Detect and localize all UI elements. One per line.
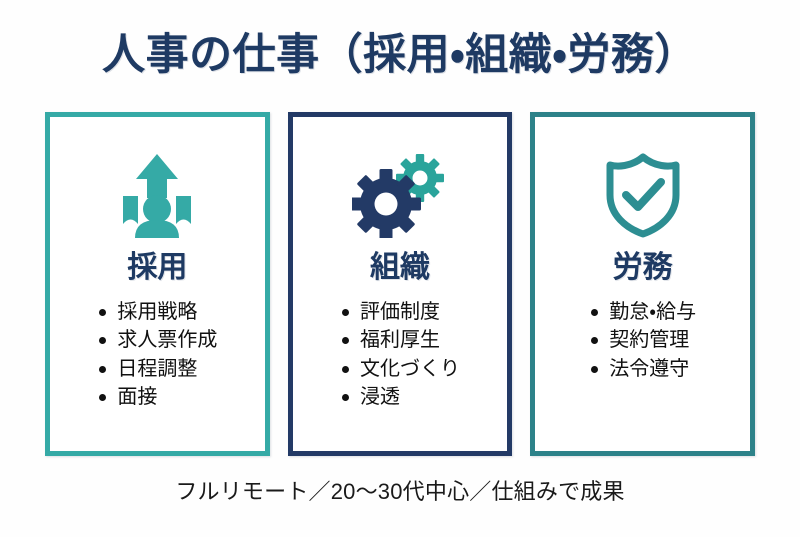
list-item: 面接 [97,383,217,411]
list-item: 日程調整 [97,355,217,383]
card-title-roumu: 労務 [613,251,673,284]
list-item: 求人票作成 [97,326,217,354]
card-list-roumu: 勤怠・給与 契約管理 法令遵守 [589,298,696,383]
footer-area: フルリモート／20〜30代中心／仕組みで成果 [0,456,800,537]
slide-root: 人事の仕事（採用・組織・労務） [0,0,800,537]
card-saiyou[interactable]: 採用 採用戦略 求人票作成 日程調整 面接 [45,112,270,456]
list-item: 契約管理 [589,326,696,354]
people-growth-arrow-icon [121,143,193,247]
list-item: 文化づくり [340,355,460,383]
list-item: 採用戦略 [97,298,217,326]
card-title-soshiki: 組織 [370,251,430,284]
shield-check-icon [603,143,683,247]
card-soshiki[interactable]: 組織 評価制度 福利厚生 文化づくり 浸透 [288,112,513,456]
list-item: 浸透 [340,383,460,411]
card-roumu[interactable]: 労務 勤怠・給与 契約管理 法令遵守 [530,112,755,456]
list-item: 評価制度 [340,298,460,326]
list-item: 福利厚生 [340,326,460,354]
gears-icon [352,143,448,247]
cards-row: 採用 採用戦略 求人票作成 日程調整 面接 [0,112,800,456]
card-list-soshiki: 評価制度 福利厚生 文化づくり 浸透 [340,298,460,412]
page-title: 人事の仕事（採用・組織・労務） [102,32,698,79]
card-list-saiyou: 採用戦略 求人票作成 日程調整 面接 [97,298,217,412]
list-item: 法令遵守 [589,355,696,383]
title-area: 人事の仕事（採用・組織・労務） [0,0,800,112]
card-title-saiyou: 採用 [127,251,187,284]
footer-caption: フルリモート／20〜30代中心／仕組みで成果 [175,474,624,506]
list-item: 勤怠・給与 [589,298,696,326]
